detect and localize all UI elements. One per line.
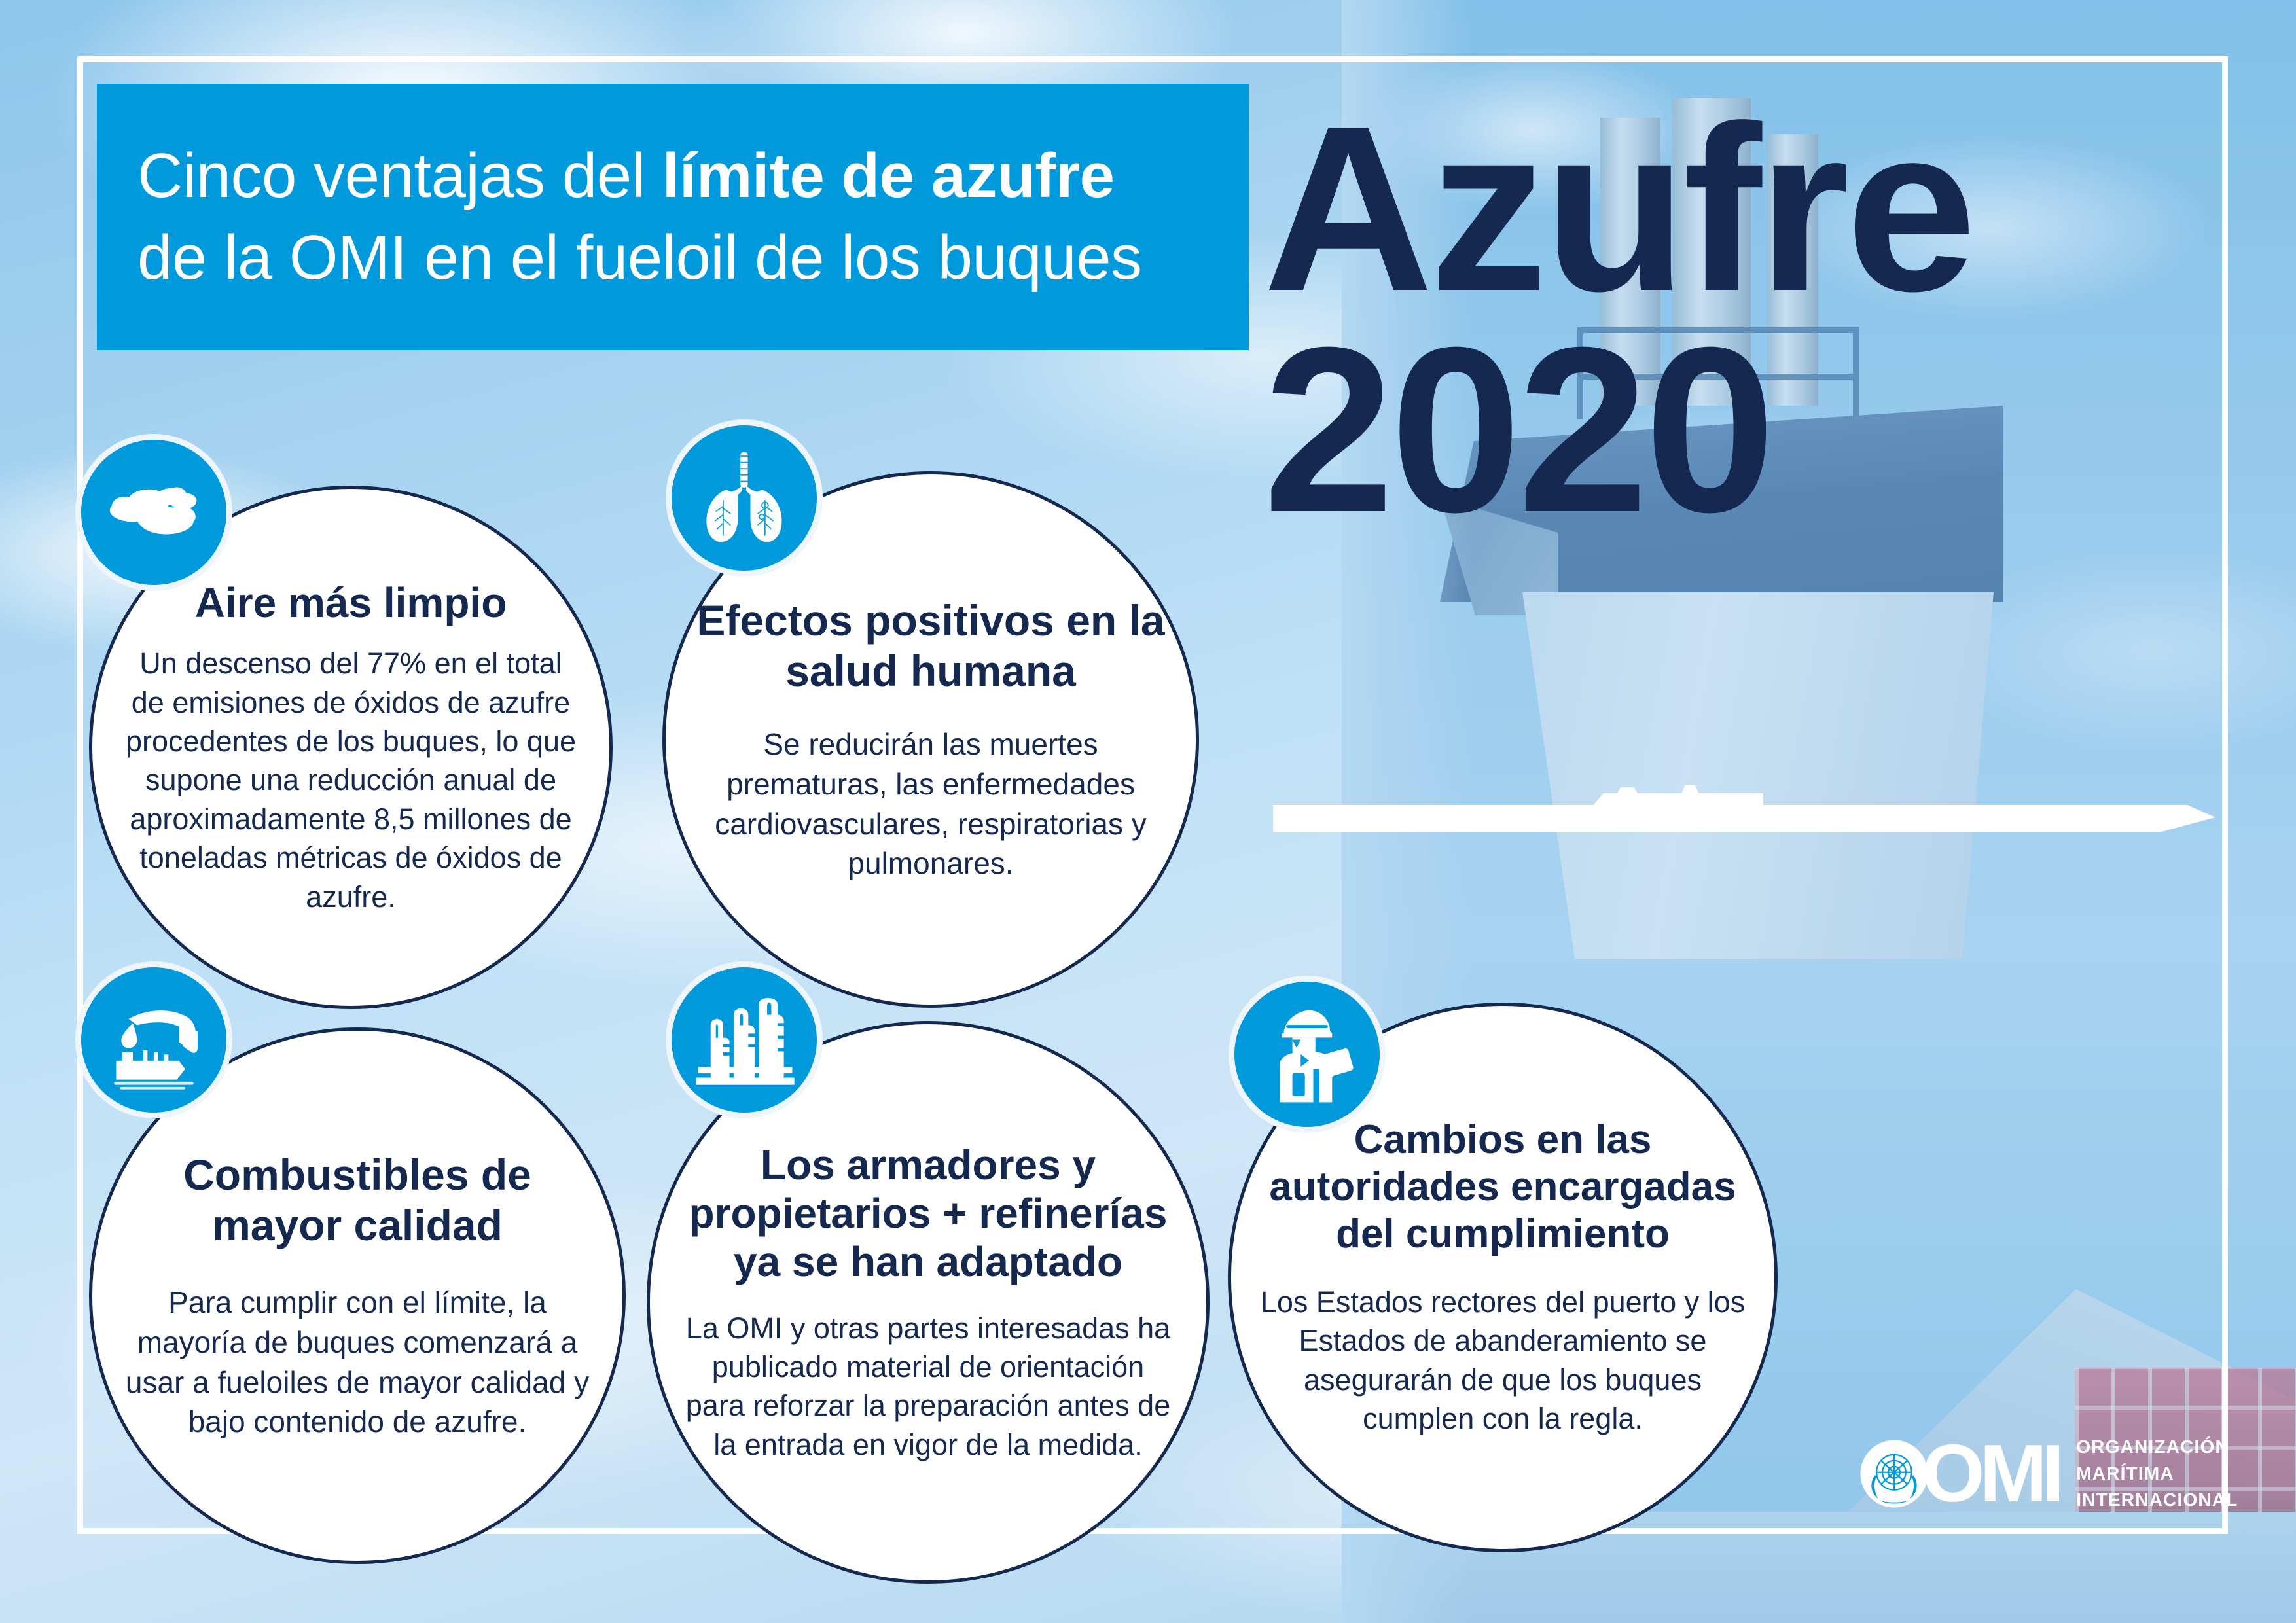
ship-silhouette-deck — [1594, 785, 1763, 805]
omi-fullname: ORGANIZACIÓN MARÍTIMA INTERNACIONAL — [2076, 1434, 2238, 1514]
header-banner: Cinco ventajas del límite de azufre de l… — [97, 84, 1249, 350]
inspector-icon — [1234, 982, 1380, 1127]
benefit-heading: Combustibles de mayor calidad — [121, 1150, 594, 1250]
omi-wordmark: OMI — [1857, 1433, 2059, 1514]
clouds-icon — [81, 440, 226, 585]
lungs-icon — [672, 425, 817, 571]
header-line1-bold: límite de azufre — [662, 141, 1115, 211]
benefit-body: La OMI y otras partes interesadas ha pub… — [679, 1309, 1177, 1465]
page-title-line2: 2020 — [1263, 319, 2193, 541]
un-emblem-icon — [1857, 1437, 1931, 1510]
omi-mark-text: OMI — [1922, 1433, 2059, 1514]
ship-silhouette-icon — [1273, 785, 2215, 832]
header-line2: de la OMI en el fueloil de los buques — [137, 223, 1141, 293]
benefit-heading: Aire más limpio — [195, 579, 507, 627]
omi-fullname-line2: MARÍTIMA — [2076, 1461, 2238, 1488]
benefit-body: Para cumplir con el límite, la mayoría d… — [121, 1283, 594, 1442]
benefit-heading: Cambios en las autoridades encargadas de… — [1260, 1116, 1746, 1258]
benefit-heading: Efectos positivos en la salud humana — [694, 596, 1167, 696]
omi-fullname-line1: ORGANIZACIÓN — [2076, 1434, 2238, 1461]
benefit-body: Se reducirán las muertes prematuras, las… — [694, 724, 1167, 883]
header-line1-plain: Cinco ventajas del — [137, 141, 662, 211]
omi-logo: OMI ORGANIZACIÓN MARÍTIMA INTERNACIONAL — [1857, 1433, 2238, 1514]
page-title: Azufre 2020 — [1263, 98, 2193, 541]
omi-fullname-line3: INTERNACIONAL — [2076, 1487, 2238, 1514]
benefit-body: Los Estados rectores del puerto y los Es… — [1260, 1283, 1746, 1438]
header-title: Cinco ventajas del límite de azufre de l… — [97, 135, 1182, 299]
refinery-icon — [672, 967, 817, 1113]
benefit-body: Un descenso del 77% en el total de emisi… — [121, 644, 581, 916]
fuel-nozzle-ship-icon — [81, 967, 226, 1113]
ship-silhouette-hull — [1273, 805, 2215, 832]
benefit-heading: Los armadores y propietarios + refinería… — [679, 1141, 1177, 1287]
